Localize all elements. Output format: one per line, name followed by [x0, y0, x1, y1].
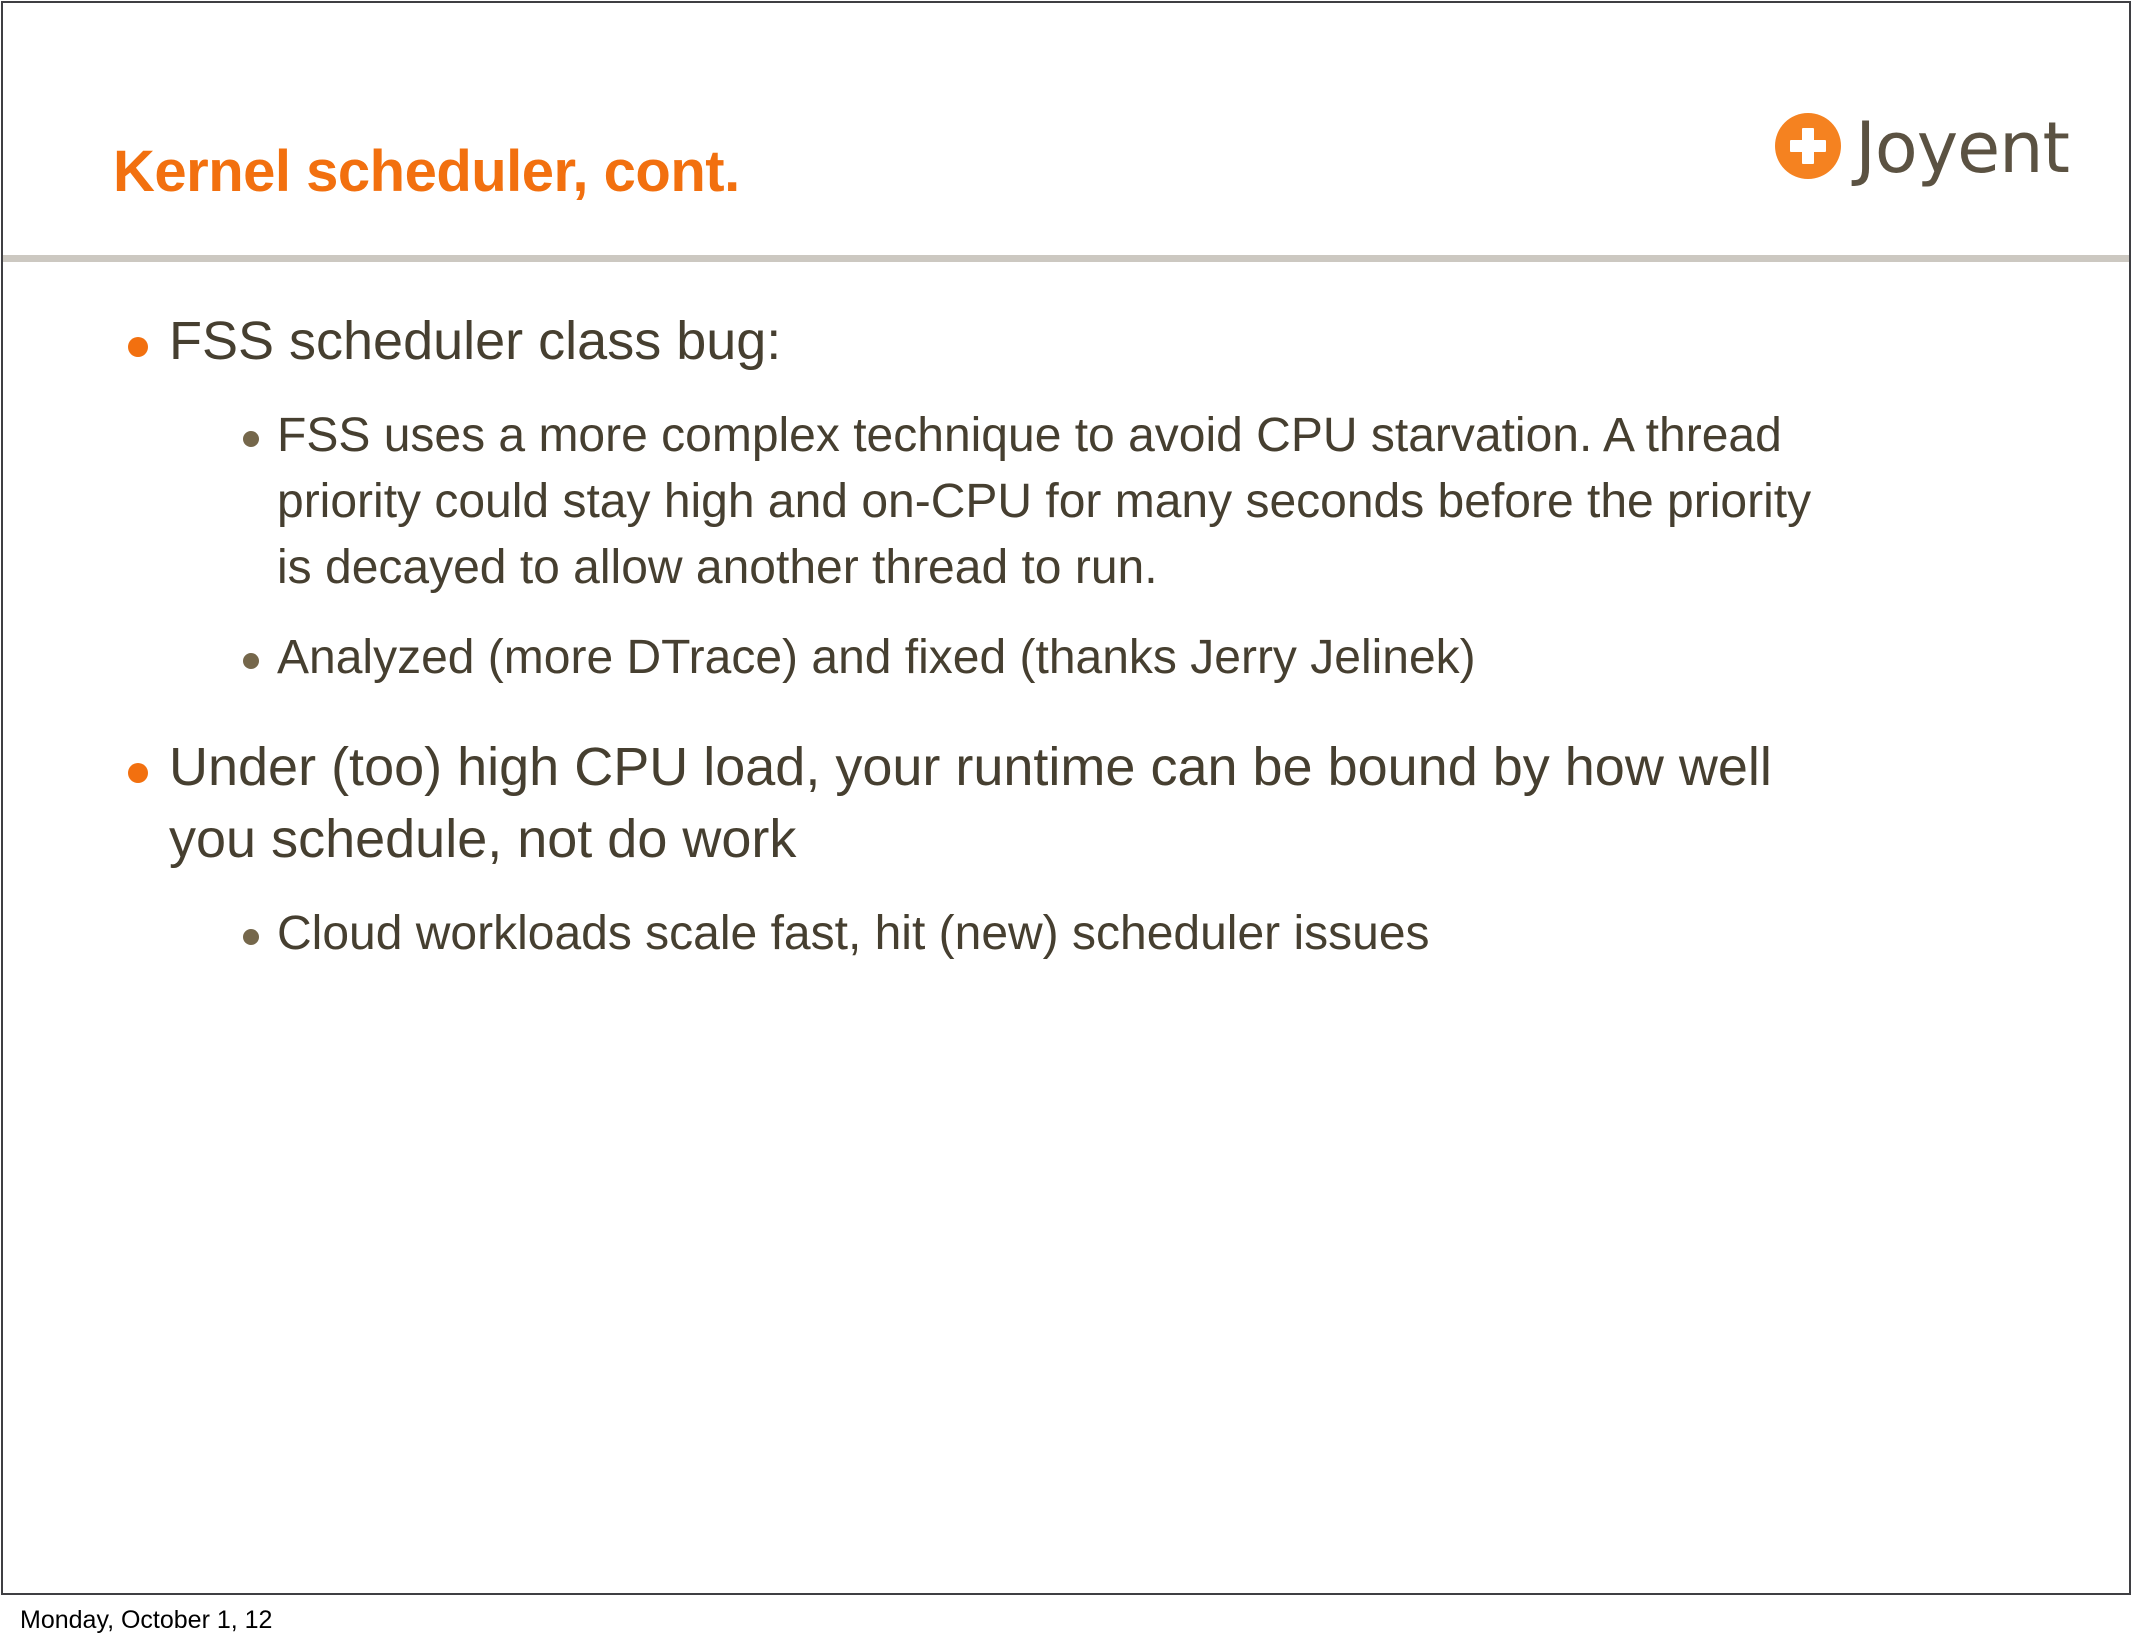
bullet-text: FSS uses a more complex technique to avo…	[277, 403, 1837, 601]
bullet-marker-orange	[107, 305, 169, 357]
footer-date: Monday, October 1, 12	[20, 1606, 272, 1635]
bullet-level1: FSS scheduler class bug:	[107, 305, 2049, 377]
slide-header: Kernel scheduler, cont. Joyent	[3, 3, 2129, 259]
bullet-level2: Cloud workloads scale fast, hit (new) sc…	[107, 901, 2049, 967]
bullet-text: FSS scheduler class bug:	[169, 305, 781, 377]
bullet-marker-brown	[225, 901, 277, 945]
bullet-marker-brown	[225, 625, 277, 669]
bullet-level2: FSS uses a more complex technique to avo…	[107, 403, 2049, 601]
presentation-slide: Kernel scheduler, cont. Joyent FSS sched…	[1, 1, 2131, 1595]
bullet-marker-orange	[107, 731, 169, 783]
page-title: Kernel scheduler, cont.	[113, 143, 740, 201]
bullet-group-spacer	[107, 715, 2049, 731]
joyent-wordmark: Joyent	[1855, 113, 2069, 183]
slide-body: FSS scheduler class bug: FSS uses a more…	[3, 259, 2129, 1593]
bullet-text: Under (too) high CPU load, your runtime …	[169, 731, 1869, 875]
bullet-level2: Analyzed (more DTrace) and fixed (thanks…	[107, 625, 2049, 691]
slide-footer: Monday, October 1, 12	[0, 1600, 2134, 1642]
slide-canvas: Kernel scheduler, cont. Joyent FSS sched…	[0, 0, 2134, 1642]
bullet-level1: Under (too) high CPU load, your runtime …	[107, 731, 2049, 875]
joyent-plus-icon	[1775, 113, 1841, 179]
bullet-text: Cloud workloads scale fast, hit (new) sc…	[277, 901, 1430, 967]
bullet-marker-brown	[225, 403, 277, 447]
bullet-text: Analyzed (more DTrace) and fixed (thanks…	[277, 625, 1476, 691]
joyent-logo: Joyent	[1775, 107, 2069, 185]
